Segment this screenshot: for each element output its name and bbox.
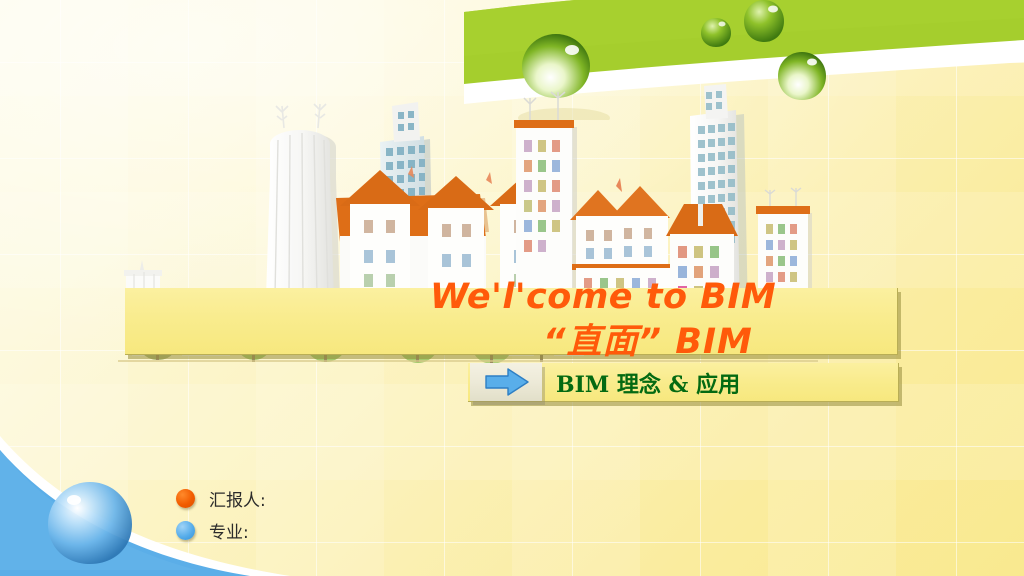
- right-arrow-icon: [470, 363, 542, 401]
- slide-title-line1: We'l'come to BIM: [430, 277, 776, 317]
- subtitle-text: BIM 理念 & 应用: [556, 367, 740, 399]
- bullet-row-major: 专业:: [176, 518, 249, 543]
- major-label: 专业:: [209, 518, 249, 543]
- orange-dot-icon: [176, 489, 195, 508]
- blue-dot-icon: [176, 521, 195, 540]
- right-arrow-glyph: [470, 363, 542, 401]
- reporter-label: 汇报人:: [209, 486, 266, 511]
- slide-title-line2: “直面” BIM: [543, 313, 753, 364]
- bullet-row-reporter: 汇报人:: [176, 486, 266, 511]
- presentation-slide: We'l'come to BIM “直面” BIM BIM 理念 & 应用 汇报…: [0, 0, 1024, 576]
